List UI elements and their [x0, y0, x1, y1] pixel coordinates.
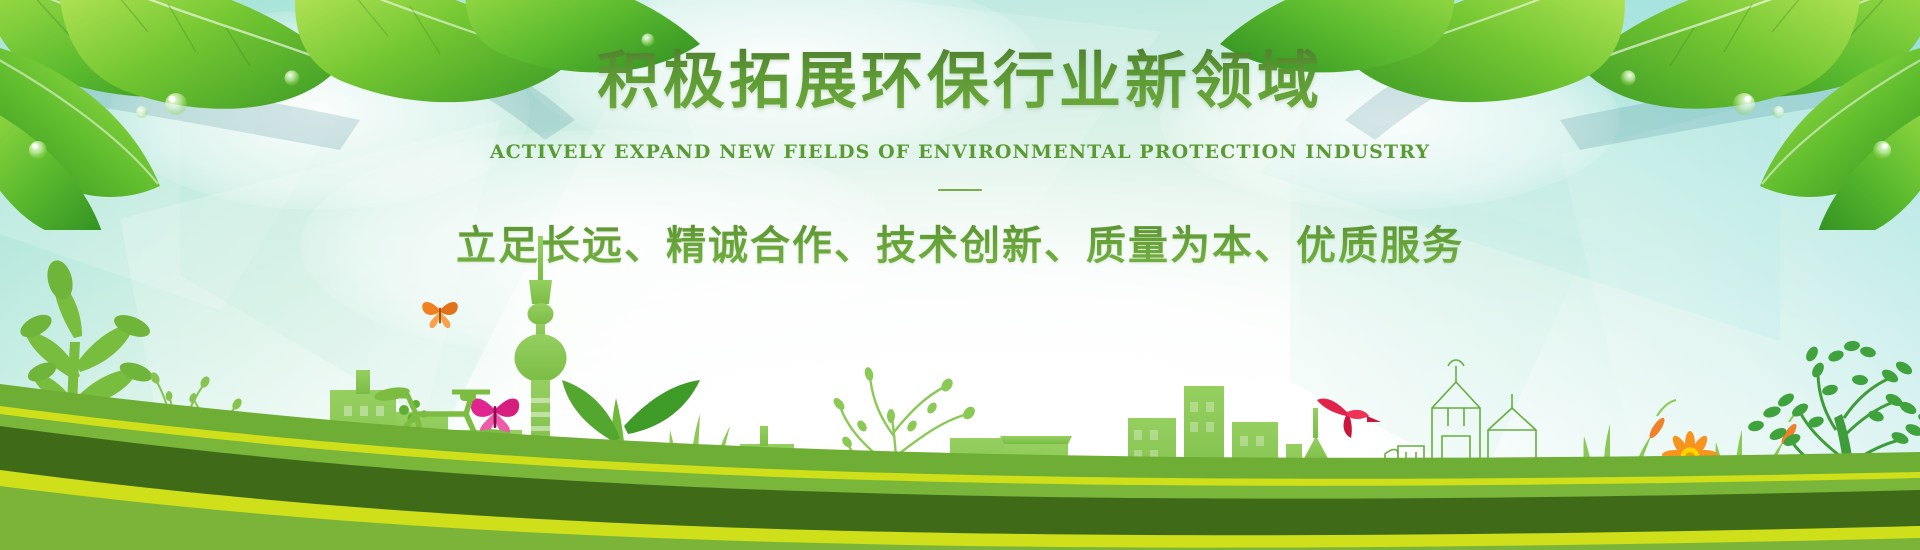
- page-title: 积极拓展环保行业新领域: [0, 46, 1920, 115]
- divider-rule: [938, 189, 982, 191]
- wave-bands: [0, 320, 1920, 550]
- subtitle-text: ACTIVELY EXPAND NEW FIELDS OF ENVIRONMEN…: [0, 141, 1920, 163]
- eco-banner: 积极拓展环保行业新领域 ACTIVELY EXPAND NEW FIELDS O…: [0, 0, 1920, 550]
